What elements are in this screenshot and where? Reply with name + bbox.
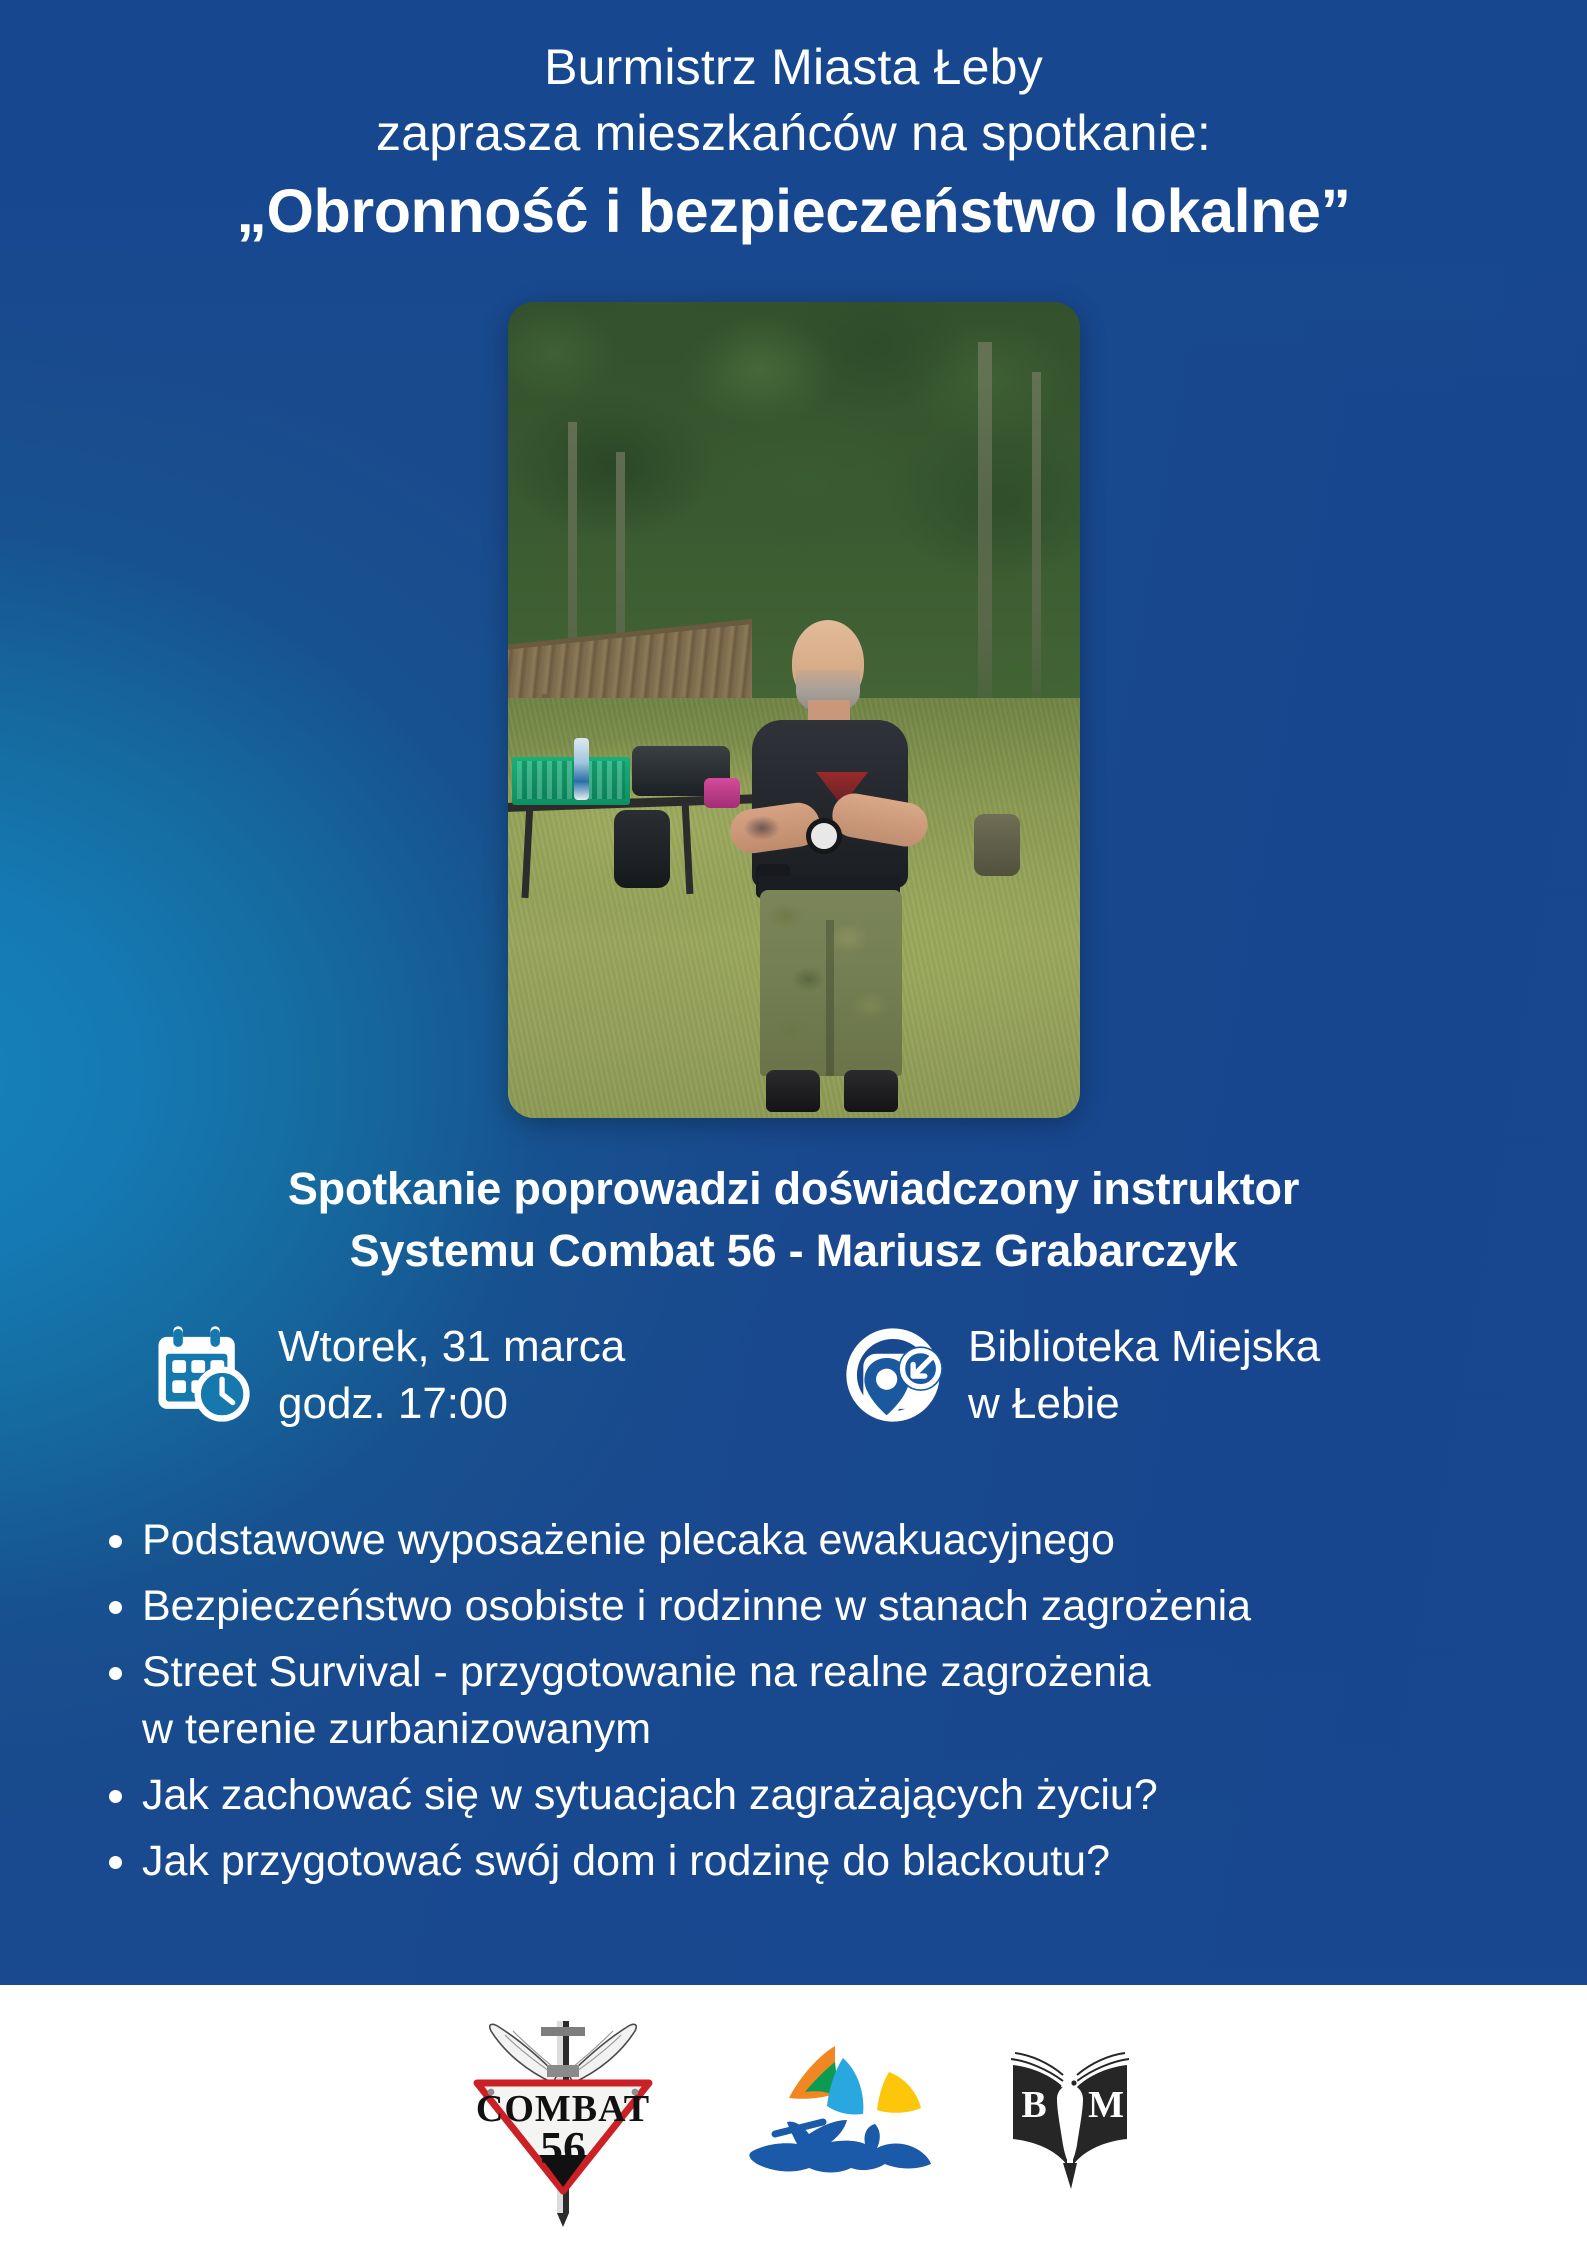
biblioteka-miejska-logo: B M [1005, 2039, 1135, 2191]
list-item-text: Jak przygotować swój dom i rodzinę do bl… [142, 1837, 1110, 1885]
photo-rucksack [974, 814, 1020, 876]
biblioteka-logo-letter-m: M [1088, 2084, 1124, 2126]
photo-instructor-boot [844, 1070, 898, 1112]
photo-instructor-boot [766, 1070, 820, 1112]
event-date-text: Wtorek, 31 marca godz. 17:00 [278, 1318, 625, 1432]
event-place-line-1: Biblioteka Miejska [968, 1322, 1320, 1371]
header-line-1: Burmistrz Miasta Łeby [0, 34, 1587, 100]
subtitle-line-1: Spotkanie poprowadzi doświadczony instru… [0, 1158, 1587, 1220]
list-item-text: Bezpieczeństwo osobiste i rodzinne w sta… [142, 1582, 1251, 1630]
calendar-clock-icon [150, 1322, 256, 1428]
biblioteka-logo-letter-b: B [1021, 2084, 1046, 2126]
list-item-text: Jak zachować się w sytuacjach zagrażając… [142, 1771, 1158, 1819]
list-item: Jak zachować się w sytuacjach zagrażając… [104, 1767, 1527, 1824]
photo-backpack [614, 810, 670, 888]
topics-list: Podstawowe wyposażenie plecaka ewakuacyj… [104, 1512, 1527, 1899]
photo-instructor [720, 620, 950, 1118]
event-place-text: Biblioteka Miejska w Łebie [968, 1318, 1320, 1432]
map-pin-icon [840, 1322, 946, 1428]
event-date-line-2: godz. 17:00 [278, 1379, 508, 1428]
instructor-photo [508, 302, 1080, 1118]
instructor-subtitle: Spotkanie poprowadzi doświadczony instru… [0, 1158, 1587, 1282]
photo-instructor-watch [806, 818, 842, 854]
combat-56-logo-number: 56 [540, 2122, 586, 2173]
list-item-text-continued: w terenie zurbanizowanym [142, 1701, 1527, 1758]
photo-instructor-camo-trousers [760, 890, 902, 1076]
poster-header: Burmistrz Miasta Łeby zaprasza mieszkańc… [0, 34, 1587, 248]
event-date-block: Wtorek, 31 marca godz. 17:00 [150, 1318, 840, 1432]
event-date-line-1: Wtorek, 31 marca [278, 1322, 625, 1371]
event-place-block: Biblioteka Miejska w Łebie [840, 1318, 1320, 1432]
list-item-text: Podstawowe wyposażenie plecaka ewakuacyj… [142, 1516, 1115, 1564]
poster: Burmistrz Miasta Łeby zaprasza mieszkańc… [0, 0, 1587, 2245]
photo-scene [508, 302, 1080, 1118]
list-item: Street Survival - przygotowanie na realn… [104, 1644, 1527, 1758]
subtitle-line-2: Systemu Combat 56 - Mariusz Grabarczyk [0, 1220, 1587, 1282]
leba-town-logo [739, 2040, 939, 2190]
list-item: Jak przygotować swój dom i rodzinę do bl… [104, 1833, 1527, 1890]
list-item-text: Street Survival - przygotowanie na realn… [142, 1648, 1151, 1696]
list-item: Bezpieczeństwo osobiste i rodzinne w sta… [104, 1578, 1527, 1635]
page-title: „Obronność i bezpieczeństwo lokalne” [0, 174, 1587, 248]
event-details: Wtorek, 31 marca godz. 17:00 [150, 1318, 1450, 1432]
photo-green-crate [512, 757, 630, 805]
combat-56-logo: COMBAT 56 [453, 1997, 673, 2233]
list-item: Podstawowe wyposażenie plecaka ewakuacyj… [104, 1512, 1527, 1569]
photo-water-bottle [574, 738, 589, 800]
event-place-line-2: w Łebie [968, 1379, 1120, 1428]
photo-instructor-tattoo [744, 816, 780, 840]
header-line-2: zaprasza mieszkańców na spotkanie: [0, 100, 1587, 166]
footer-logos: COMBAT 56 [0, 1985, 1587, 2245]
